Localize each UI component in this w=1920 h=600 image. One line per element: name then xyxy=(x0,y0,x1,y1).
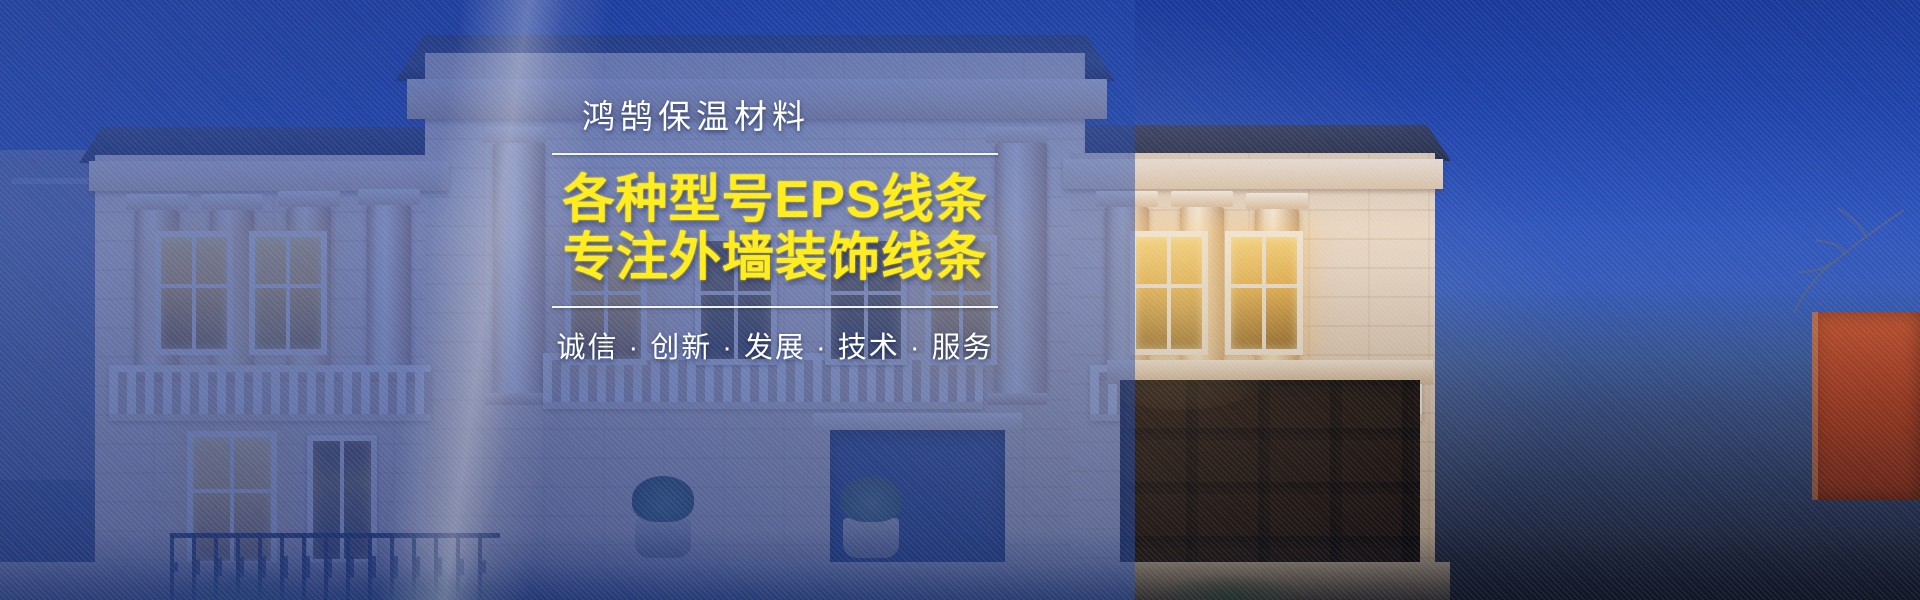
potted-shrub xyxy=(632,476,694,522)
divider-bottom xyxy=(552,306,998,308)
window xyxy=(249,231,327,355)
column xyxy=(493,143,545,393)
headline-line-1: 各种型号EPS线条 xyxy=(552,171,998,229)
banner-text-block: 鸿鹄保温材料 各种型号EPS线条 专注外墙装饰线条 诚信 · 创新 · 发展 ·… xyxy=(552,96,998,366)
potted-shrub xyxy=(840,476,902,522)
divider-top xyxy=(552,153,998,155)
brand-name: 鸿鹄保温材料 xyxy=(552,96,998,137)
column xyxy=(995,143,1047,393)
headline-group: 各种型号EPS线条 专注外墙装饰线条 xyxy=(552,171,998,287)
cornice-left xyxy=(89,161,449,191)
promo-banner: 鸿鹄保温材料 各种型号EPS线条 专注外墙装饰线条 诚信 · 创新 · 发展 ·… xyxy=(0,0,1920,600)
window xyxy=(155,231,233,355)
cornice-right xyxy=(1063,159,1443,189)
tagline: 诚信 · 创新 · 发展 · 技术 · 服务 xyxy=(552,324,998,366)
tree-branch xyxy=(1754,200,1904,350)
headline-line-2: 专注外墙装饰线条 xyxy=(552,229,998,287)
balustrade xyxy=(109,365,431,421)
window xyxy=(1130,231,1208,355)
garden-bushes xyxy=(0,530,1920,600)
window xyxy=(1225,231,1303,355)
column xyxy=(367,205,411,370)
